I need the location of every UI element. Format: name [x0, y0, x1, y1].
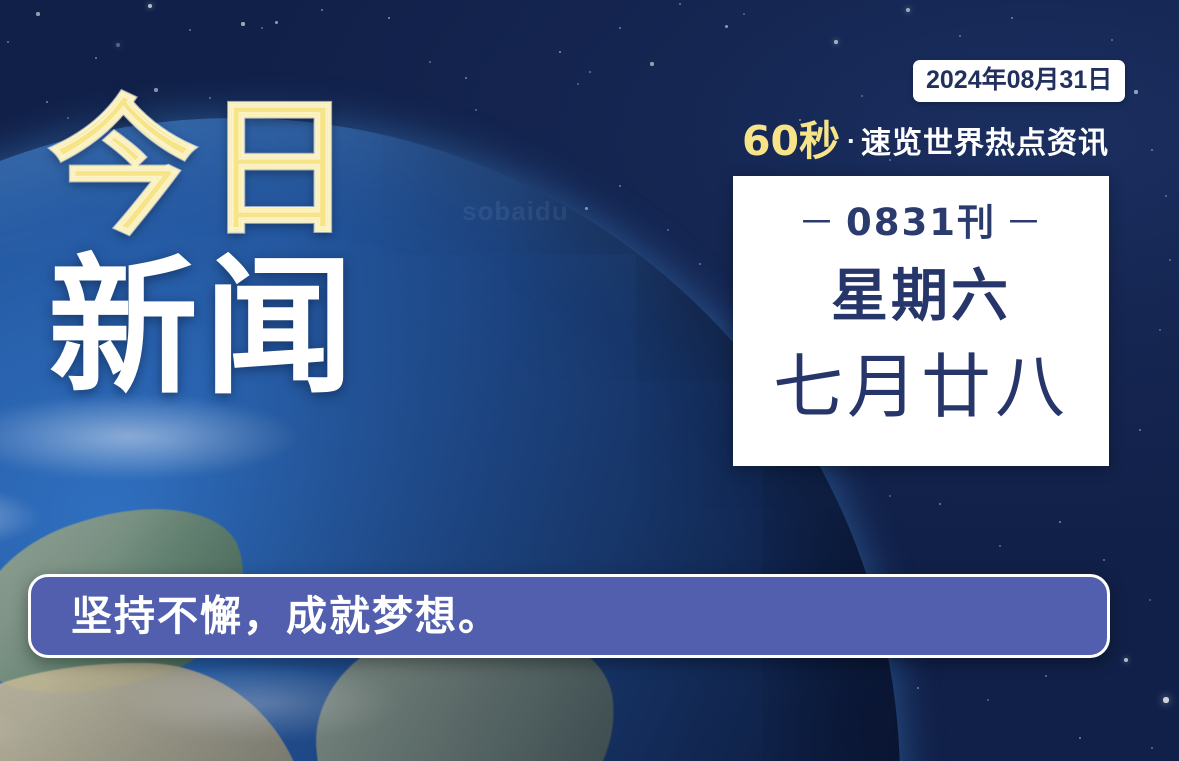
- star: [7, 41, 9, 43]
- star: [679, 3, 681, 5]
- issue-number: 0831刊: [846, 201, 996, 244]
- star: [321, 9, 323, 11]
- star: [559, 51, 562, 54]
- star: [1134, 90, 1137, 93]
- star: [1079, 737, 1082, 740]
- star: [189, 29, 191, 31]
- star: [1169, 259, 1171, 261]
- star: [987, 699, 989, 701]
- star: [639, 419, 641, 421]
- star: [1151, 149, 1153, 151]
- star: [906, 8, 910, 12]
- star: [1163, 697, 1168, 702]
- star: [619, 27, 621, 29]
- issue-number-row: －0831刊－: [789, 192, 1053, 246]
- star: [703, 489, 706, 492]
- star: [889, 495, 891, 497]
- star: [917, 687, 920, 690]
- star: [465, 77, 468, 80]
- star: [429, 61, 431, 63]
- star: [1139, 429, 1142, 432]
- star: [699, 391, 702, 394]
- star: [834, 40, 838, 44]
- star: [629, 299, 631, 301]
- tagline: 60秒·速览世界热点资讯: [733, 121, 1109, 162]
- title-line-news: 新闻: [48, 255, 360, 402]
- star: [116, 43, 120, 47]
- issue-dash-right: －: [1005, 201, 1044, 244]
- star: [659, 351, 661, 353]
- star: [761, 493, 763, 495]
- star: [475, 109, 477, 111]
- star: [585, 207, 588, 210]
- star: [799, 675, 801, 677]
- lunar-date-label: 七月廿八: [773, 352, 1069, 422]
- star: [857, 705, 859, 707]
- star: [699, 263, 701, 265]
- star: [819, 515, 821, 517]
- star: [261, 27, 263, 29]
- star: [1149, 599, 1151, 601]
- star: [725, 25, 728, 28]
- tagline-duration: 60秒: [742, 117, 840, 165]
- star: [743, 13, 745, 15]
- star: [148, 4, 152, 8]
- title-line-today: 今日: [48, 96, 360, 243]
- quote-banner: 坚持不懈，成就梦想。: [28, 574, 1110, 658]
- star: [999, 545, 1001, 547]
- star: [1059, 521, 1062, 524]
- star: [1111, 39, 1113, 41]
- star: [1159, 329, 1161, 331]
- star: [388, 17, 391, 20]
- star: [36, 12, 39, 15]
- star: [1124, 658, 1128, 662]
- star: [939, 503, 942, 506]
- star: [650, 62, 653, 65]
- news-poster: sobaidu 今日 新闻 2024年08月31日 60秒·速览世界热点资讯 －…: [0, 0, 1179, 761]
- issue-info-card: －0831刊－ 星期六 七月廿八: [733, 176, 1109, 466]
- star: [959, 35, 961, 37]
- issue-dash-left: －: [798, 201, 837, 244]
- star: [1011, 17, 1014, 20]
- tagline-text: 速览世界热点资讯: [861, 127, 1109, 160]
- background-watermark: sobaidu: [462, 196, 569, 227]
- star: [275, 21, 278, 24]
- star: [95, 57, 97, 59]
- quote-text: 坚持不懈，成就梦想。: [31, 596, 501, 637]
- date-badge: 2024年08月31日: [913, 60, 1125, 102]
- right-column: 2024年08月31日 60秒·速览世界热点资讯 －0831刊－ 星期六 七月廿…: [733, 60, 1109, 466]
- star: [1103, 559, 1105, 561]
- weekday-label: 星期六: [831, 268, 1011, 325]
- tagline-separator: ·: [847, 126, 856, 156]
- star: [667, 229, 669, 231]
- star: [619, 185, 621, 187]
- star: [1165, 195, 1167, 197]
- star: [241, 22, 244, 25]
- star: [591, 329, 594, 332]
- star: [577, 83, 579, 85]
- star: [743, 713, 745, 715]
- poster-title: 今日 新闻: [48, 96, 360, 402]
- star: [1151, 747, 1153, 749]
- star: [1045, 675, 1047, 677]
- star: [589, 71, 591, 73]
